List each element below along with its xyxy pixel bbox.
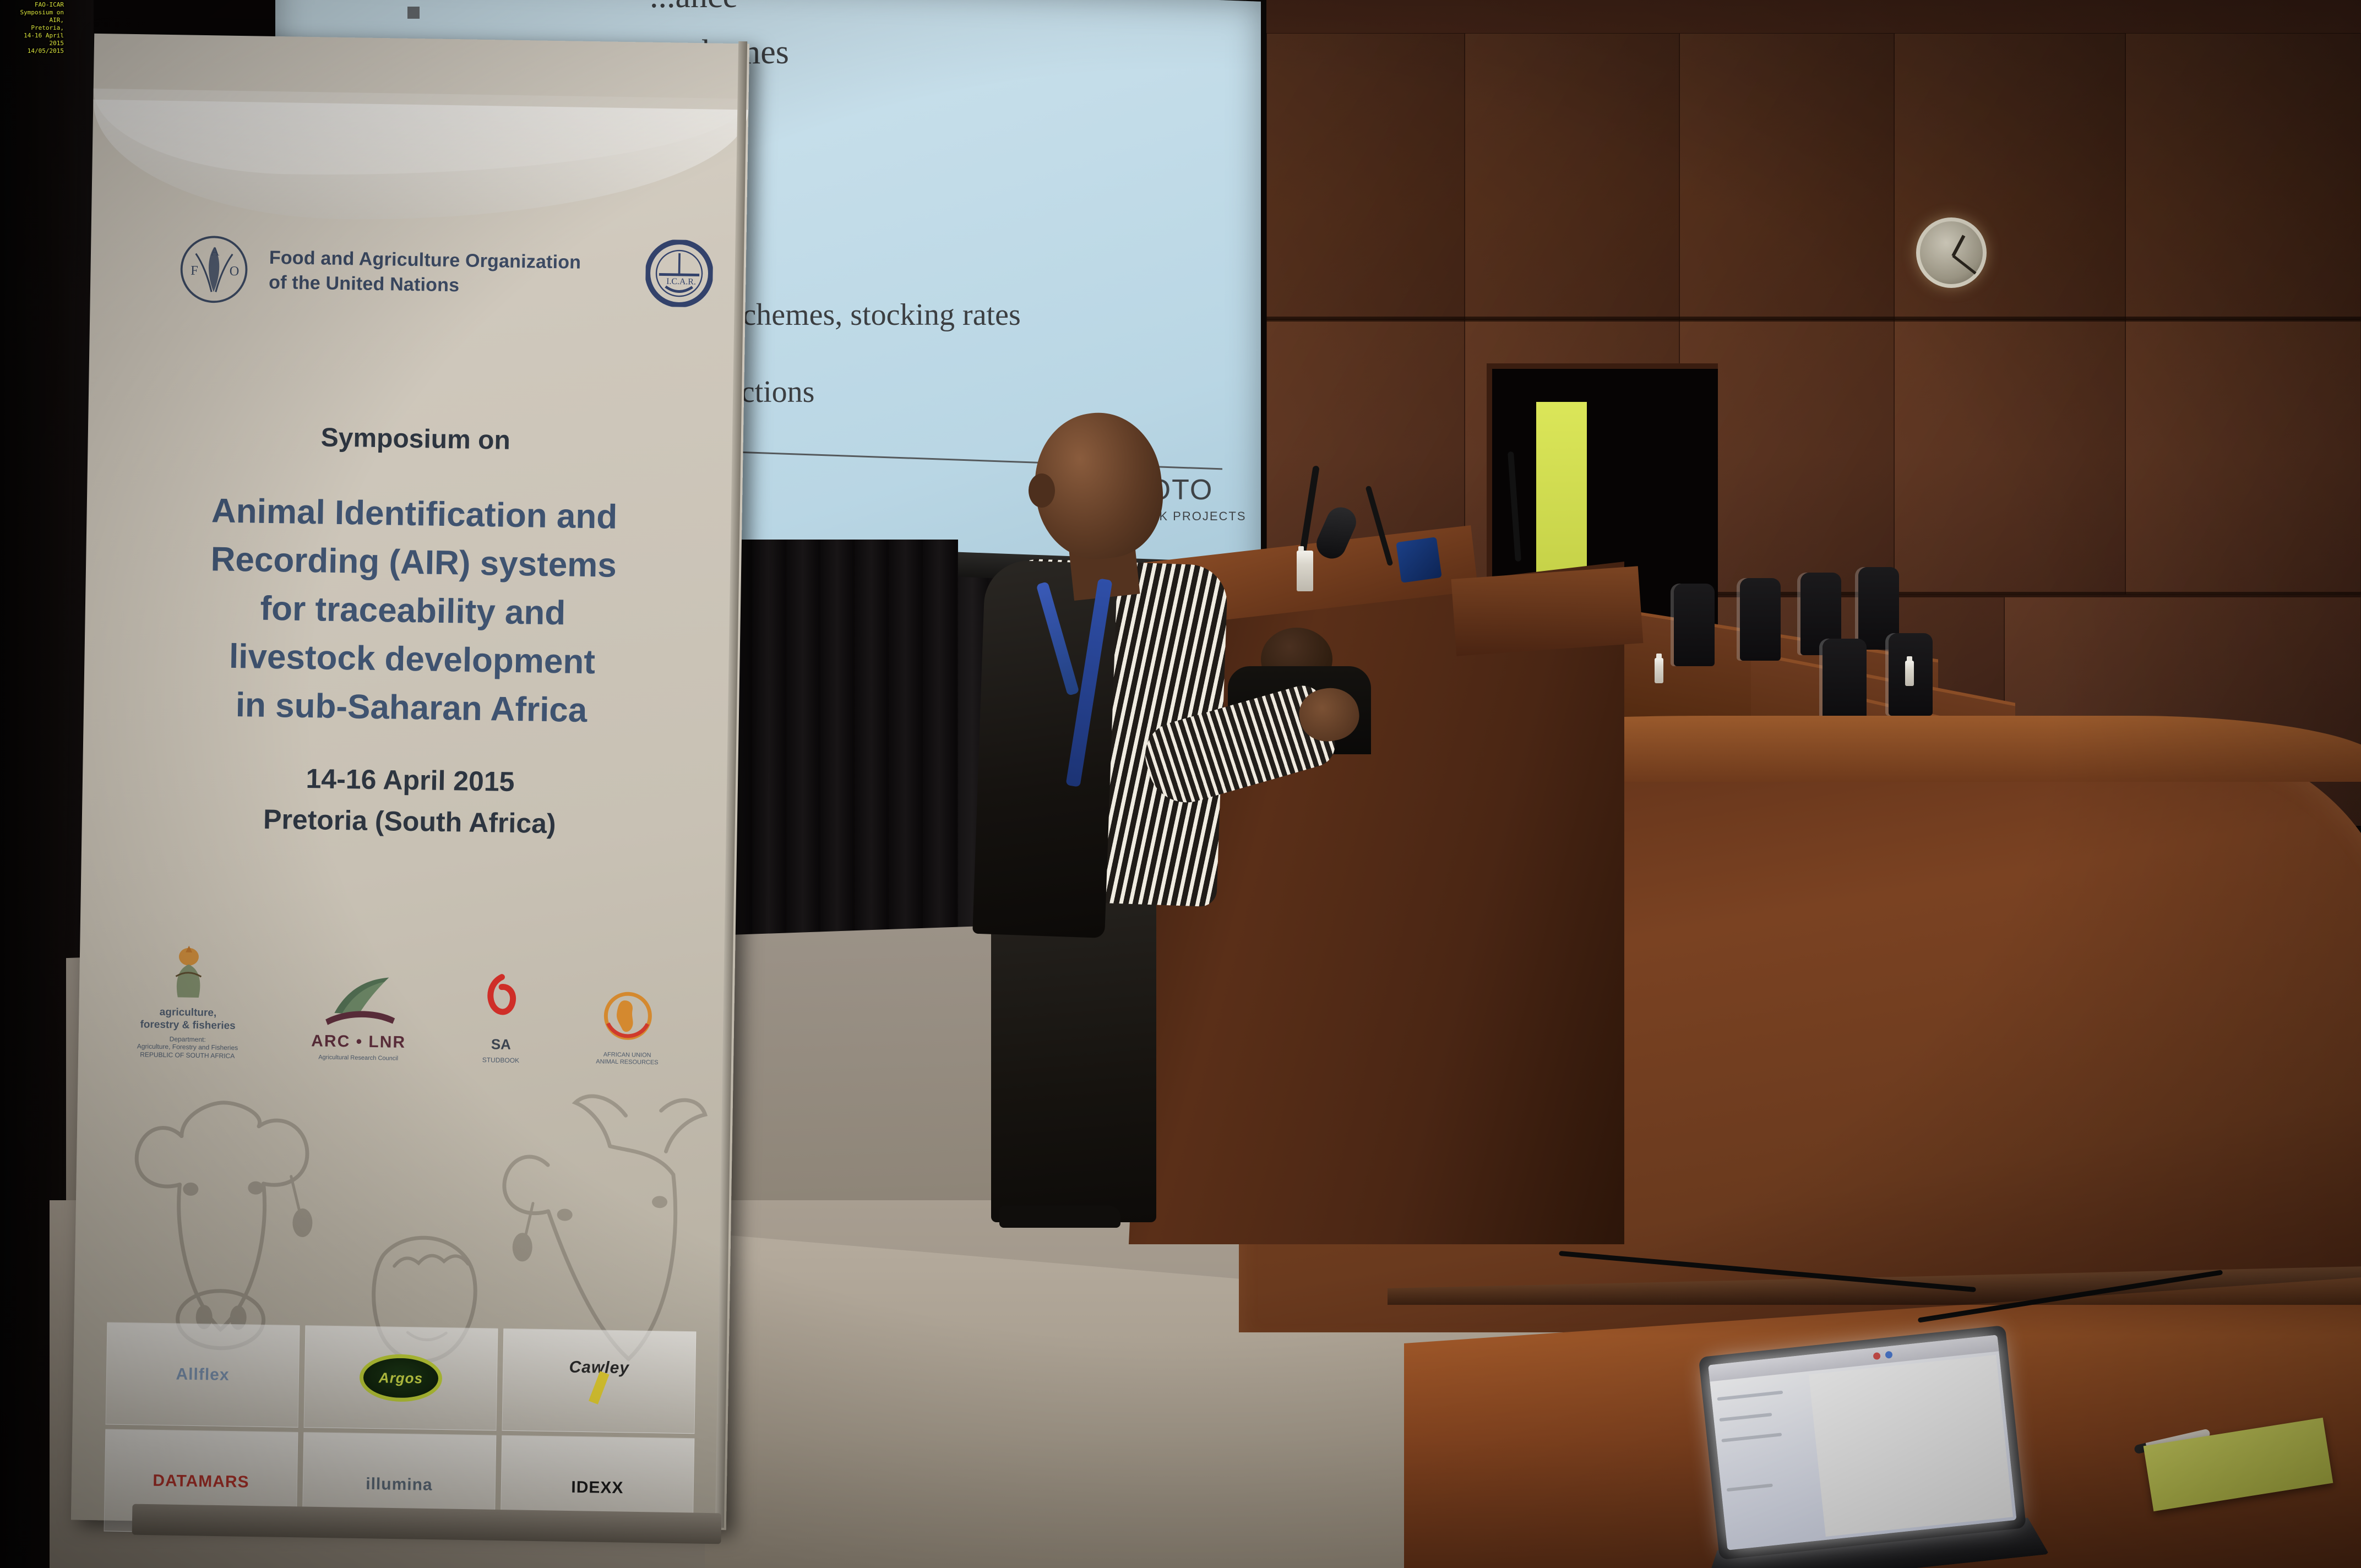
panel-chair [1740, 578, 1781, 661]
partner-logo-caption: SA [479, 1036, 523, 1053]
water-bottle [1655, 658, 1663, 683]
sponsor-label: IDEXX [571, 1478, 624, 1498]
panel-chair [1823, 639, 1867, 721]
wall-clock [1916, 217, 1987, 288]
water-bottle [1905, 661, 1914, 686]
sponsor-label: Argos [379, 1369, 423, 1387]
partner-logo-subcaption: Department: Agriculture, Forestry and Fi… [137, 1035, 238, 1060]
laptop-sidebar-line [1717, 1391, 1783, 1401]
slide-bullet-icon [407, 7, 420, 19]
fao-logo: F A O [178, 233, 250, 305]
sponsor-argos: Argos [304, 1325, 498, 1430]
sponsor-label: illumina [366, 1475, 433, 1495]
podium-side-shelf [1451, 566, 1644, 656]
partner-logo-subcaption: STUDBOOK [478, 1056, 523, 1065]
banner-title: Animal Identification and Recording (AIR… [83, 485, 742, 738]
fao-name-line-2: of the United Nations [269, 270, 581, 300]
argos-oval-icon: Argos [359, 1354, 442, 1402]
partner-logo-african-union: AFRICAN UNION ANIMAL RESOURCES [596, 990, 659, 1066]
banner-title-line-5: in sub-Saharan Africa [83, 679, 739, 738]
conference-photo: ...ance Farm assurance schemes ...ndards… [0, 0, 2361, 1568]
presenter-ear [1029, 473, 1055, 508]
icar-logo: I.C.A.R. [645, 239, 714, 308]
laptop-screen[interactable] [1708, 1335, 2016, 1550]
camera-timestamp-overlay: FAO-ICAR Symposium on AIR, Pretoria, 14-… [2, 1, 64, 56]
partner-logo-arc-lnr: ARC • LNR Agricultural Research Council [311, 974, 407, 1063]
fao-name-block: Food and Agriculture Organization of the… [269, 246, 581, 300]
panel-chair [1674, 584, 1715, 666]
partner-logo-sa-studbook: SA STUDBOOK [478, 972, 524, 1065]
icar-logo-text: I.C.A.R. [666, 277, 696, 287]
partner-logo-subcaption: AFRICAN UNION ANIMAL RESOURCES [596, 1051, 659, 1066]
slide-line-0: ...ance [650, 0, 738, 16]
svg-text:F: F [191, 263, 198, 278]
laptop-content-panel [1808, 1355, 2013, 1537]
banner-eyebrow: Symposium on [88, 419, 743, 460]
fao-logo-row: F A O Food and Agriculture Organization … [178, 227, 719, 318]
laptop-sidebar-line [1719, 1413, 1772, 1422]
presenter-water-bottle [1297, 551, 1313, 591]
partner-logo-dept-agriculture: agriculture, forestry & fisheries Depart… [137, 940, 240, 1060]
sa-studbook-mark-icon [479, 972, 524, 1033]
african-union-mark-icon [600, 990, 656, 1046]
partner-logo-caption: agriculture, forestry & fisheries [137, 1006, 238, 1033]
laptop-lid [1699, 1325, 2027, 1560]
sponsor-cawley: Cawley [502, 1329, 697, 1434]
roll-up-banner: F A O Food and Agriculture Organization … [71, 34, 749, 1530]
microphone-flag [1396, 537, 1442, 583]
presenter-shoe [999, 1206, 1120, 1228]
svg-text:O: O [229, 264, 239, 279]
banner-date-place: 14-16 April 2015 Pretoria (South Africa) [81, 755, 738, 848]
svg-text:A: A [210, 245, 219, 258]
partner-logo-subcaption: Agricultural Research Council [311, 1054, 406, 1063]
sponsor-allflex: Allflex [106, 1322, 300, 1427]
laptop-sidebar-line [1727, 1484, 1773, 1492]
banner-partner-logo-row: agriculture, forestry & fisheries Depart… [78, 914, 736, 1068]
presenter-at-podium [969, 396, 1354, 1222]
sponsor-label: Allflex [176, 1365, 230, 1385]
partner-logo-caption: ARC • LNR [311, 1032, 406, 1052]
laptop-sidebar-line [1721, 1433, 1782, 1442]
sa-coat-of-arms-icon [165, 940, 213, 1001]
foreground-laptop[interactable] [1699, 1325, 2030, 1568]
sponsor-label: DATAMARS [153, 1472, 249, 1492]
arc-lnr-mark-icon [318, 974, 401, 1030]
